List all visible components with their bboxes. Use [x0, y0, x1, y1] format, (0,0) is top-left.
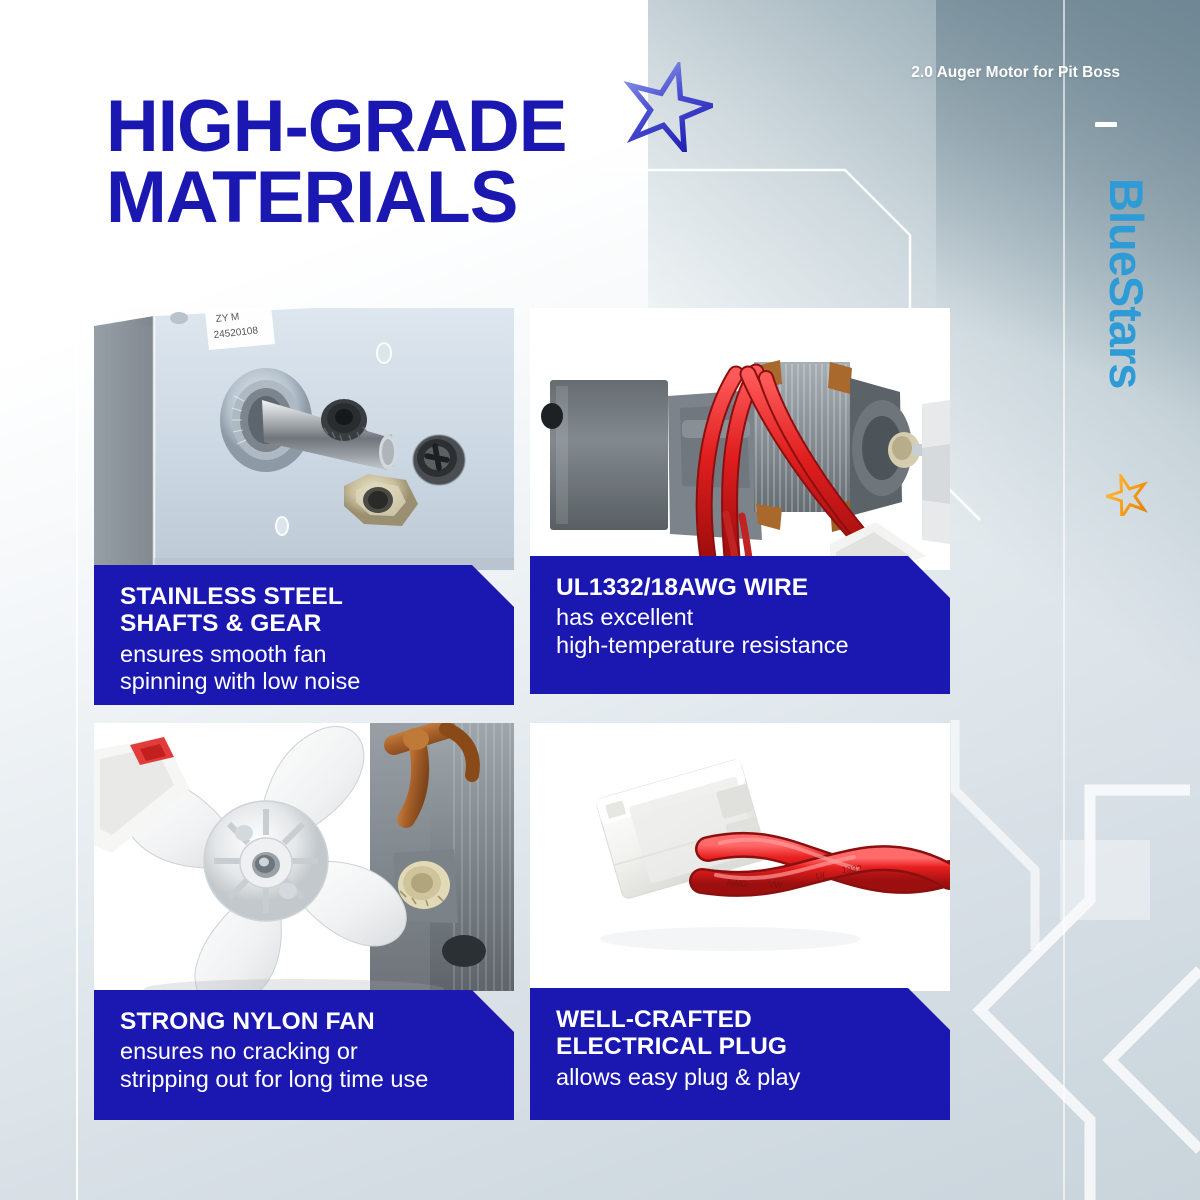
feature-card-well-crafted-electrical-plug: AWG VW UL 1332 WELL-CRAFTED ELECTRICAL P…: [530, 723, 950, 1120]
background-hairline-left: [76, 0, 78, 1200]
nylon-fan-photo: [94, 723, 514, 991]
feature-title: STRONG NYLON FAN: [120, 1008, 494, 1035]
feature-caption-panel: STRONG NYLON FAN ensures no cracking or …: [94, 990, 514, 1120]
feature-subtitle: ensures no cracking or stripping out for…: [120, 1038, 494, 1093]
feature-caption-panel: STAINLESS STEEL SHAFTS & GEAR ensures sm…: [94, 565, 514, 705]
svg-text:UL: UL: [816, 870, 828, 881]
page-title: HIGH-GRADE MATERIALS: [106, 92, 566, 234]
brand-logo: BlueStars: [1100, 178, 1156, 508]
feature-title: WELL-CRAFTED ELECTRICAL PLUG: [556, 1006, 930, 1061]
feature-title: UL1332/18AWG WIRE: [556, 574, 930, 601]
motor-wires-photo: [530, 308, 950, 570]
brand-star-icon: [1106, 474, 1148, 521]
product-label-divider: [1095, 122, 1117, 127]
product-label: 2.0 Auger Motor for Pit Boss: [911, 62, 1120, 84]
feature-title: STAINLESS STEEL SHAFTS & GEAR: [120, 583, 494, 638]
electrical-plug-photo: AWG VW UL 1332: [530, 723, 950, 991]
svg-text:VW: VW: [768, 879, 784, 890]
feature-card-ul1332-18awg-wire: UL1332/18AWG WIRE has excellent high-tem…: [530, 308, 950, 705]
brand-name: BlueStars: [1099, 178, 1154, 388]
chevron-watermark-icon-2: [935, 720, 1105, 950]
headline-star-icon: [623, 62, 713, 157]
feature-grid: ZY M 24520108: [94, 308, 950, 1120]
feature-card-stainless-steel-shafts-gear: ZY M 24520108: [94, 308, 514, 705]
motor-shaft-photo: ZY M 24520108: [94, 308, 514, 570]
svg-text:1332: 1332: [841, 863, 862, 875]
feature-subtitle: allows easy plug & play: [556, 1064, 930, 1091]
feature-subtitle: has excellent high-temperature resistanc…: [556, 604, 930, 659]
feature-card-strong-nylon-fan: STRONG NYLON FAN ensures no cracking or …: [94, 723, 514, 1120]
feature-caption-panel: UL1332/18AWG WIRE has excellent high-tem…: [530, 556, 950, 694]
feature-subtitle: ensures smooth fan spinning with low noi…: [120, 641, 494, 696]
feature-caption-panel: WELL-CRAFTED ELECTRICAL PLUG allows easy…: [530, 988, 950, 1120]
